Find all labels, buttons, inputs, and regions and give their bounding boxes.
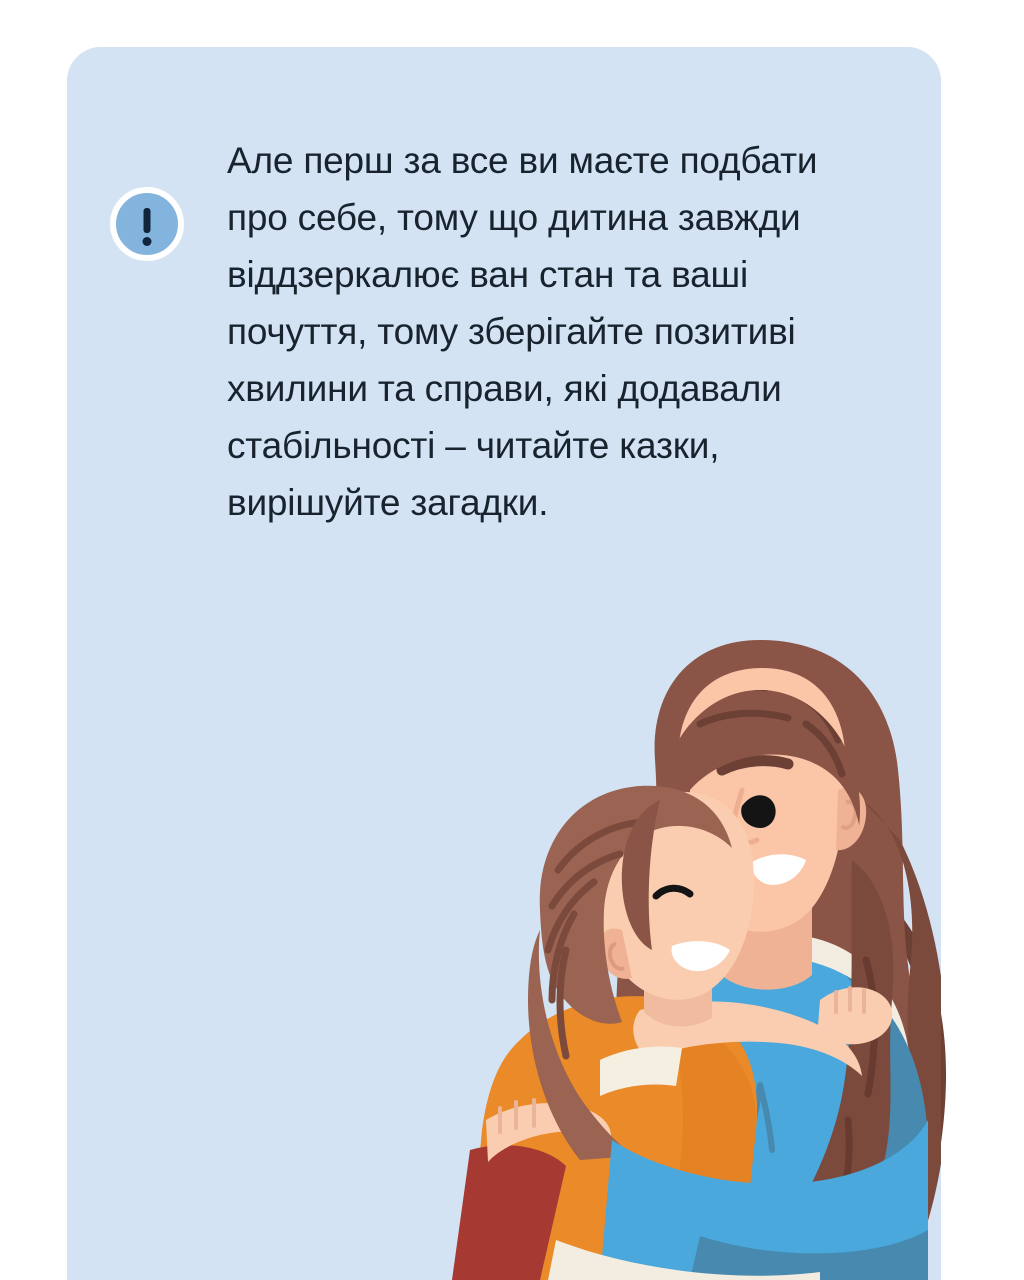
notice-line: хвилини та справи, які додавали [227,360,923,417]
notice-line: віддзеркалює ван стан та ваші [227,246,923,303]
alert-icon-wrap [67,132,227,261]
notice-line: почуття, тому зберігайте позитиві [227,303,923,360]
exclamation-stem [144,208,151,233]
notice-block: Але перш за все ви маєте подбати про себ… [67,47,941,531]
exclamation-dot [143,237,152,246]
notice-line: про себе, тому що дитина завжди [227,189,923,246]
notice-line: Але перш за все ви маєте подбати [227,132,923,189]
notice-text: Але перш за все ви маєте подбати про себ… [227,132,941,531]
notice-line: стабільності – читайте казки, [227,417,923,474]
notice-line: вирішуйте загадки. [227,474,923,531]
exclamation-circle-icon [110,187,184,261]
